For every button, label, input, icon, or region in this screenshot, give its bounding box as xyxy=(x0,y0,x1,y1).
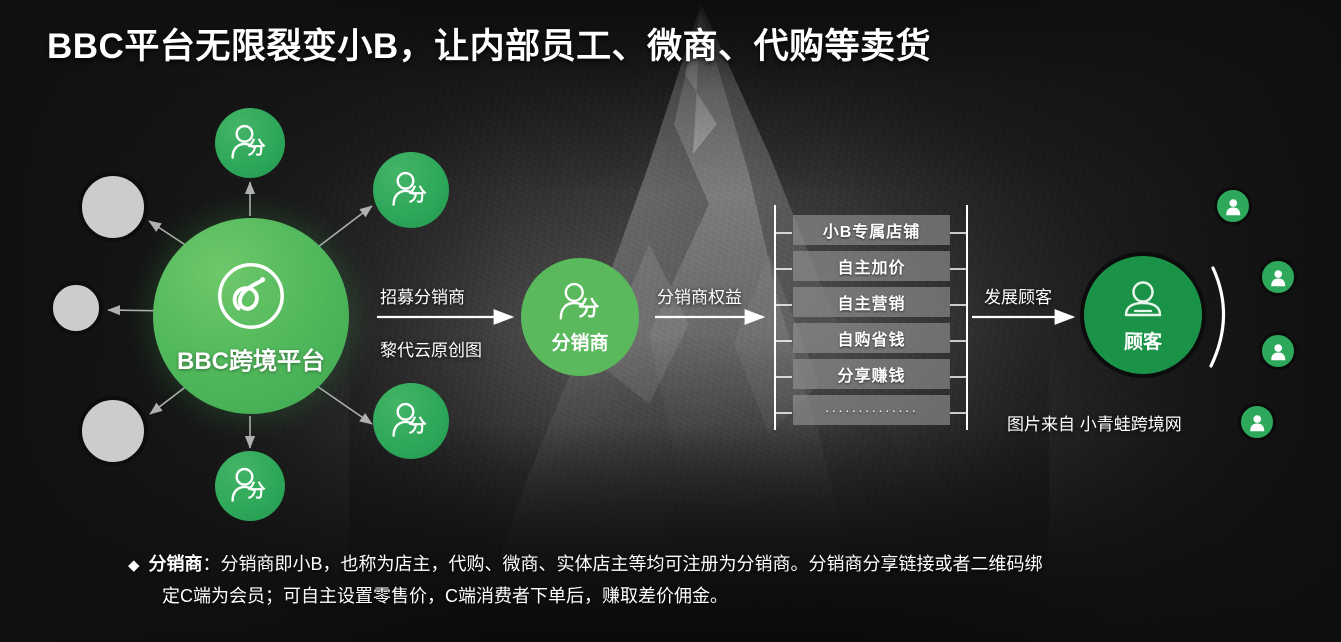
customer-node-label: 顾客 xyxy=(1124,327,1162,354)
benefit-item-ellipsis[interactable]: ·············· xyxy=(793,395,950,425)
svg-text:分: 分 xyxy=(408,184,427,205)
distributor-node-3[interactable]: 分 xyxy=(373,383,449,459)
person-fen-icon: 分 xyxy=(557,280,603,326)
description-term: 分销商 xyxy=(149,554,203,574)
distributor-node-1[interactable]: 分 xyxy=(215,108,285,178)
person-avatar-icon xyxy=(1268,341,1288,361)
diamond-bullet-icon: ◆ xyxy=(128,557,140,574)
person-fen-icon: 分 xyxy=(389,399,433,443)
distributor-node-2[interactable]: 分 xyxy=(373,152,449,228)
description-line-1: 分销商即小B，也称为店主，代购、微商、实体店主等均可注册为分销商。分销商分享链接… xyxy=(221,554,1043,574)
gray-node-2[interactable] xyxy=(49,281,103,335)
benefit-item[interactable]: 分享赚钱 xyxy=(793,359,950,389)
person-fen-icon: 分 xyxy=(389,168,433,212)
benefits-list: 小B专属店铺 自主加价 自主营销 自购省钱 分享赚钱 ·············… xyxy=(793,215,950,431)
infinity-loop-icon xyxy=(212,257,290,335)
benefit-item[interactable]: 自主加价 xyxy=(793,251,950,281)
description-colon: ： xyxy=(203,554,221,574)
page-title: BBC平台无限裂变小B，让内部员工、微商、代购等卖货 xyxy=(47,18,931,69)
svg-text:分: 分 xyxy=(408,415,427,436)
attribution-text: 图片来自 小青蛙跨境网 xyxy=(1007,410,1182,435)
flow-label-rights: 分销商权益 xyxy=(657,283,742,308)
hub-node-bbc-platform[interactable]: BBC跨境平台 xyxy=(153,218,349,414)
person-avatar-icon xyxy=(1247,412,1267,432)
person-icon xyxy=(1119,277,1167,325)
person-avatar-icon xyxy=(1268,267,1288,287)
customer-avatar-3[interactable] xyxy=(1259,332,1297,370)
person-avatar-icon xyxy=(1223,196,1243,216)
flow-label-recruit: 招募分销商 xyxy=(380,283,465,308)
description-line-2: 定C端为会员；可自主设置零售价，C端消费者下单后，赚取差价佣金。 xyxy=(128,581,1248,612)
benefit-item[interactable]: 小B专属店铺 xyxy=(793,215,950,245)
customer-node[interactable]: 顾客 xyxy=(1080,252,1206,378)
hub-node-label: BBC跨境平台 xyxy=(177,341,325,376)
gray-node-1[interactable] xyxy=(78,172,148,242)
distributor-node-main[interactable]: 分 分销商 xyxy=(521,258,639,376)
customer-avatar-1[interactable] xyxy=(1214,187,1252,225)
description-block: ◆分销商：分销商即小B，也称为店主，代购、微商、实体店主等均可注册为分销商。分销… xyxy=(128,549,1248,612)
gray-node-3[interactable] xyxy=(78,396,148,466)
flow-label-develop: 发展顾客 xyxy=(984,283,1052,308)
benefit-item[interactable]: 自购省钱 xyxy=(793,323,950,353)
distributor-node-label: 分销商 xyxy=(551,328,608,355)
flow-label-credit: 黎代云原创图 xyxy=(380,336,482,361)
benefit-item[interactable]: 自主营销 xyxy=(793,287,950,317)
slide-canvas: BBC平台无限裂变小B，让内部员工、微商、代购等卖货 BBC跨境平台 分 分 分 xyxy=(0,0,1341,642)
customer-avatar-4[interactable] xyxy=(1238,403,1276,441)
svg-text:分: 分 xyxy=(247,480,266,501)
person-fen-icon: 分 xyxy=(228,121,272,165)
customer-avatar-2[interactable] xyxy=(1259,258,1297,296)
distributor-node-4[interactable]: 分 xyxy=(215,451,285,521)
svg-text:分: 分 xyxy=(247,137,266,158)
person-fen-icon: 分 xyxy=(228,464,272,508)
svg-text:分: 分 xyxy=(578,296,599,320)
